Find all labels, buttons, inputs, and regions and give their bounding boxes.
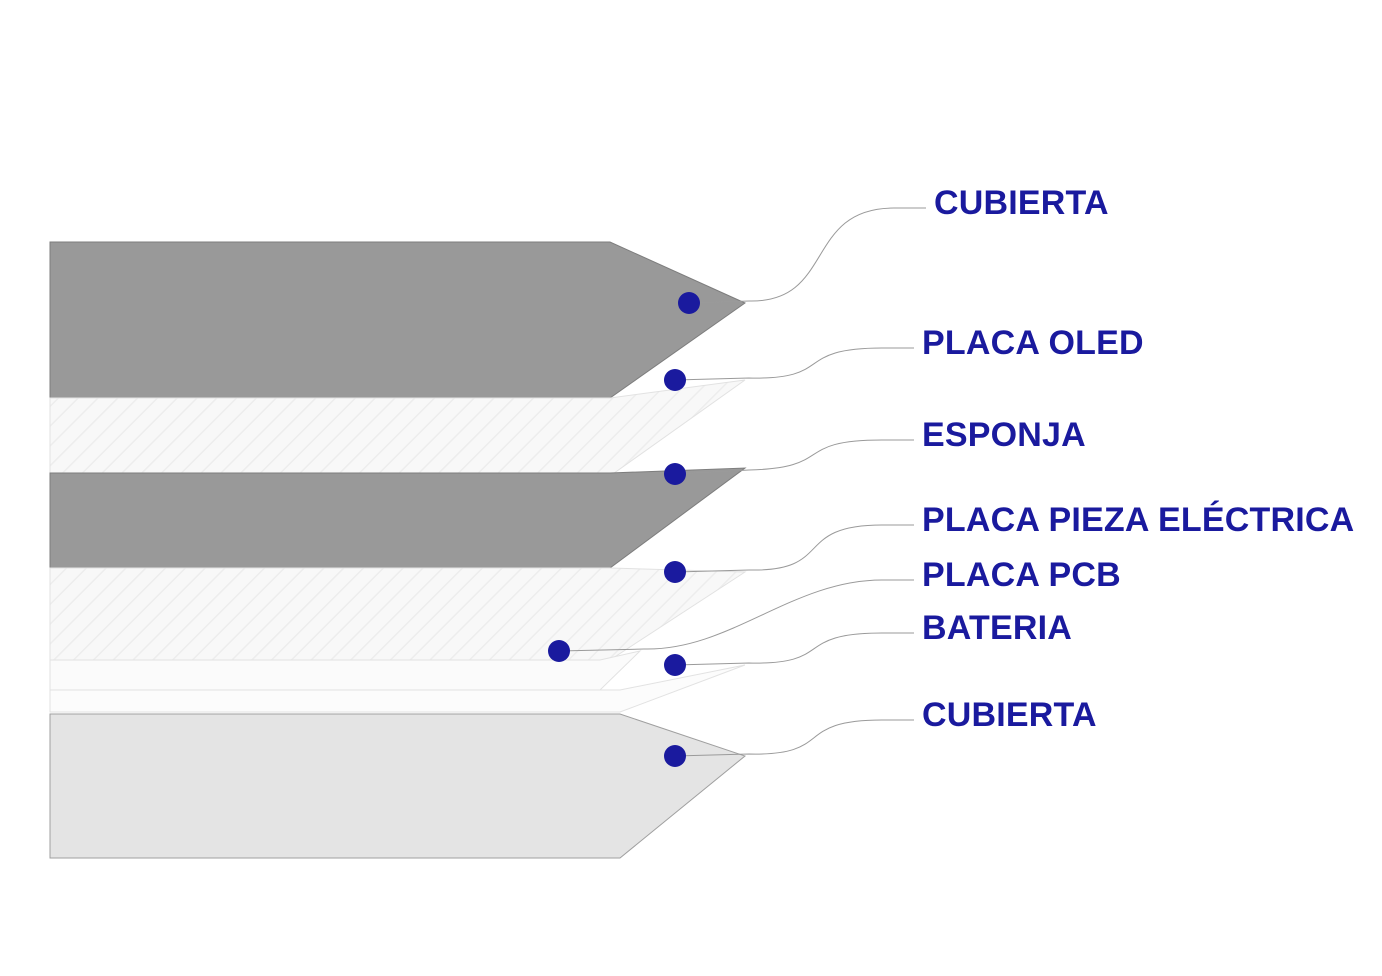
- callout-dot-placa-oled[interactable]: [664, 369, 686, 391]
- callout-dot-placa-pieza-electrica[interactable]: [664, 561, 686, 583]
- layer-placa-pieza-electrica: [50, 568, 745, 660]
- leader-line-bateria: [675, 633, 914, 665]
- layer-cubierta-superior: [50, 242, 745, 398]
- label-placa-pieza-electrica: PLACA PIEZA ELÉCTRICA: [922, 503, 1354, 537]
- leader-line-cubierta-superior: [689, 208, 926, 303]
- diagram-canvas: CUBIERTAPLACA OLEDESPONJAPLACA PIEZA ELÉ…: [0, 0, 1382, 976]
- layer-esponja: [50, 468, 745, 568]
- label-esponja: ESPONJA: [922, 418, 1086, 452]
- leader-line-placa-oled: [675, 348, 914, 380]
- callout-dot-bateria[interactable]: [664, 654, 686, 676]
- layer-stack-svg: [0, 0, 1382, 976]
- label-placa-pcb: PLACA PCB: [922, 558, 1121, 592]
- label-cubierta-superior: CUBIERTA: [934, 186, 1109, 220]
- layer-shapes-group: [50, 242, 745, 858]
- label-cubierta-inferior: CUBIERTA: [922, 698, 1097, 732]
- label-placa-oled: PLACA OLED: [922, 326, 1144, 360]
- callout-dot-placa-pcb[interactable]: [548, 640, 570, 662]
- callout-dot-esponja[interactable]: [664, 463, 686, 485]
- leader-line-placa-pieza-electrica: [675, 525, 914, 572]
- callout-dot-cubierta-superior[interactable]: [678, 292, 700, 314]
- label-bateria: BATERIA: [922, 611, 1072, 645]
- layer-cubierta-inferior: [50, 714, 745, 858]
- callout-dot-cubierta-inferior[interactable]: [664, 745, 686, 767]
